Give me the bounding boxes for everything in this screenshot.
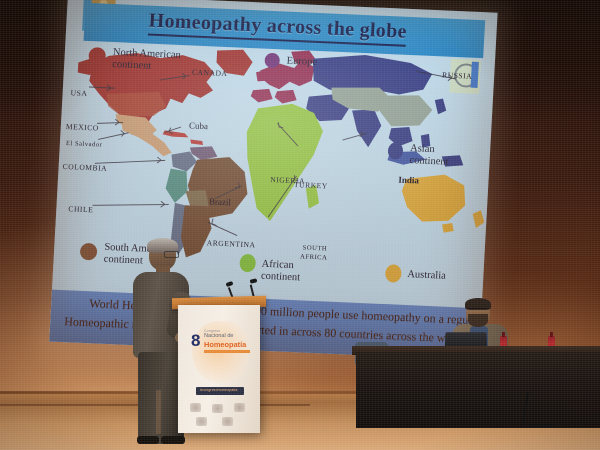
sponsor-logo <box>234 403 245 412</box>
logo-line-nacional: Nacional de <box>204 333 234 339</box>
logo-edition-number: 8 <box>191 331 200 351</box>
country-label-mexico: MEXICO <box>66 122 99 132</box>
region-japan <box>434 98 447 115</box>
projection-screen: Homeopathy across the globe <box>49 0 498 362</box>
region-new-zealand <box>472 210 485 228</box>
cable-coil <box>528 424 554 428</box>
sponsor-logo <box>212 404 223 413</box>
slide: Homeopathy across the globe <box>49 0 497 360</box>
country-label-russia: RUSSIA <box>442 70 472 80</box>
legend-label-australia: Australia <box>407 269 446 282</box>
legend-label-europe: Europe <box>286 56 317 69</box>
region-india <box>350 109 382 148</box>
region-china <box>377 94 433 128</box>
legend-text: Asian <box>410 143 435 155</box>
region-italy-balkans <box>274 89 297 104</box>
podium-lectern: 8 Congreso Nacional de Homeopatía #congr… <box>178 305 260 433</box>
legend-label-north-america: North American continent <box>112 47 181 73</box>
sponsor-logo <box>196 417 207 426</box>
logo-line-homeopatia: Homeopatía <box>204 340 246 349</box>
slide-title: Homeopathy across the globe <box>148 10 407 47</box>
country-label-canada: CANADA <box>192 67 228 78</box>
sponsor-logo-row <box>186 403 252 427</box>
presenter-table <box>356 352 600 428</box>
legend-label-asia: Asian continent <box>409 143 449 168</box>
legend-text: Europe <box>286 56 317 68</box>
speaker-glasses-icon <box>164 251 179 258</box>
country-label-colombia: COLOMBIA <box>62 162 107 173</box>
photograph: Homeopathy across the globe <box>0 0 600 450</box>
country-label-chile: CHILE <box>68 204 93 214</box>
legend-text2: continent <box>409 155 449 168</box>
seated-person-beard <box>468 314 488 327</box>
country-label-africa: AFRICA <box>300 253 328 261</box>
sponsor-logo <box>222 417 233 426</box>
country-label-india: India <box>398 175 419 186</box>
speaker-shoe-right <box>161 436 185 444</box>
region-peru <box>165 168 189 203</box>
country-label-brazil: Brazil <box>209 196 232 207</box>
speaker-shoe-left <box>137 436 159 444</box>
region-tasmania <box>442 223 455 234</box>
legend-text2: continent <box>261 270 301 283</box>
country-label-usa: USA <box>70 88 87 98</box>
legend-text2: continent <box>112 59 152 72</box>
legend-text: Australia <box>407 269 446 282</box>
legend-label-africa: African continent <box>261 259 301 284</box>
sponsor-logo <box>190 403 201 412</box>
country-label-turkey: TURKEY <box>294 180 328 190</box>
speaker-leg-gap <box>156 390 161 434</box>
country-label-cuba: Cuba <box>189 120 209 131</box>
legend-text: African <box>261 259 294 271</box>
country-label-south: SOUTH <box>302 244 327 252</box>
region-hispaniola <box>190 139 203 145</box>
region-usa-highlight <box>105 90 166 119</box>
region-iberia <box>250 88 273 103</box>
congress-logo: 8 Congreso Nacional de Homeopatía <box>191 330 253 356</box>
podium-hashtag-badge: #congresohomeopatia <box>196 387 244 395</box>
logo-accent-bar <box>204 350 250 353</box>
podium-hashtag-text: #congresohomeopatia <box>200 388 237 392</box>
seated-person-glasses-icon <box>467 308 489 314</box>
